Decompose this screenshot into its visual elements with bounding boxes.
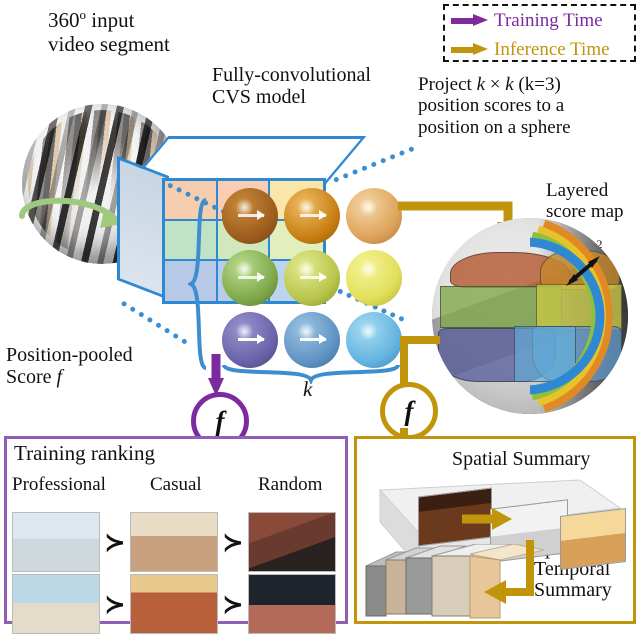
spatial-frame-3 bbox=[560, 508, 626, 570]
legend-label-training: Training Time bbox=[494, 10, 603, 31]
caption-project-l3: position on a sphere bbox=[418, 117, 571, 138]
sphere-arrow-icon bbox=[238, 338, 264, 341]
thumbnail-casual-1 bbox=[130, 512, 218, 572]
caption-position-pooled-score: Position-pooled Score f bbox=[6, 344, 133, 389]
caption-model-l1: Fully-convolutional bbox=[212, 64, 371, 86]
legend-box: Training Time Inference Time bbox=[443, 4, 636, 62]
caption-360-text: 360 bbox=[48, 8, 80, 32]
thumbnail-professional-2 bbox=[12, 574, 100, 634]
rank-greater-icon: ≻ bbox=[222, 528, 244, 558]
thumbnail-professional-1 bbox=[12, 512, 100, 572]
thumbnail-random-1 bbox=[248, 512, 336, 572]
rank-greater-icon: ≻ bbox=[104, 590, 126, 620]
f-symbol: f bbox=[216, 406, 225, 437]
caption-project: Project k × k (k=3) position scores to a… bbox=[418, 74, 571, 138]
caption-pooled-l2: Score bbox=[6, 366, 57, 388]
caption-video-segment: video segment bbox=[48, 32, 170, 56]
column-header-professional: Professional bbox=[12, 474, 106, 495]
caption-project-l1b: (k=3) bbox=[514, 74, 561, 95]
sphere-arrow-icon bbox=[238, 214, 264, 217]
column-header-casual: Casual bbox=[150, 474, 202, 495]
score-map-rings bbox=[530, 214, 634, 418]
caption-project-l2: position scores to a bbox=[418, 95, 564, 116]
caption-layered-l1: Layered bbox=[546, 180, 608, 201]
rank-greater-icon: ≻ bbox=[222, 590, 244, 620]
spatial-summary-label: Spatial Summary bbox=[452, 448, 590, 470]
caption-model-l2: CVS model bbox=[212, 86, 306, 108]
caption-pooled-l1: Position-pooled bbox=[6, 344, 133, 366]
sphere-arrow-icon bbox=[238, 276, 264, 279]
column-header-random: Random bbox=[258, 474, 322, 495]
caption-pooled-f: f bbox=[57, 366, 63, 388]
caption-project-times: × bbox=[485, 74, 505, 95]
k-squared-double-arrow-icon bbox=[566, 256, 600, 286]
spatial-flow-arrow-icon bbox=[462, 506, 514, 532]
sphere-arrow-icon bbox=[300, 276, 326, 279]
thumbnail-random-2 bbox=[248, 574, 336, 634]
spatio-temporal-arrow-icon bbox=[478, 540, 538, 616]
score-sphere bbox=[346, 250, 402, 306]
caption-project-l1a: Project bbox=[418, 74, 477, 95]
right-arrow-icon bbox=[451, 44, 487, 55]
rank-greater-icon: ≻ bbox=[104, 528, 126, 558]
legend-label-inference: Inference Time bbox=[494, 39, 610, 60]
legend-item-inference: Inference Time bbox=[445, 35, 634, 64]
f-symbol: f bbox=[405, 396, 414, 427]
caption-input-word: input bbox=[86, 8, 134, 32]
thumbnail-casual-2 bbox=[130, 574, 218, 634]
caption-project-k2: k bbox=[505, 74, 513, 95]
score-sphere bbox=[346, 188, 402, 244]
legend-item-training: Training Time bbox=[445, 6, 634, 35]
caption-project-k1: k bbox=[477, 74, 485, 95]
caption-input-video: 360o input video segment bbox=[48, 8, 170, 56]
caption-cvs-model: Fully-convolutional CVS model bbox=[212, 64, 371, 109]
sphere-arrow-icon bbox=[300, 338, 326, 341]
inference-line-to-f bbox=[374, 336, 444, 388]
rotation-arrow-icon bbox=[12, 188, 126, 244]
training-arrow-down-to-f bbox=[208, 354, 224, 396]
sphere-arrow-icon bbox=[300, 214, 326, 217]
training-panel-title: Training ranking bbox=[14, 442, 155, 466]
right-arrow-icon bbox=[451, 15, 487, 26]
brace-vertical-k bbox=[188, 198, 210, 370]
